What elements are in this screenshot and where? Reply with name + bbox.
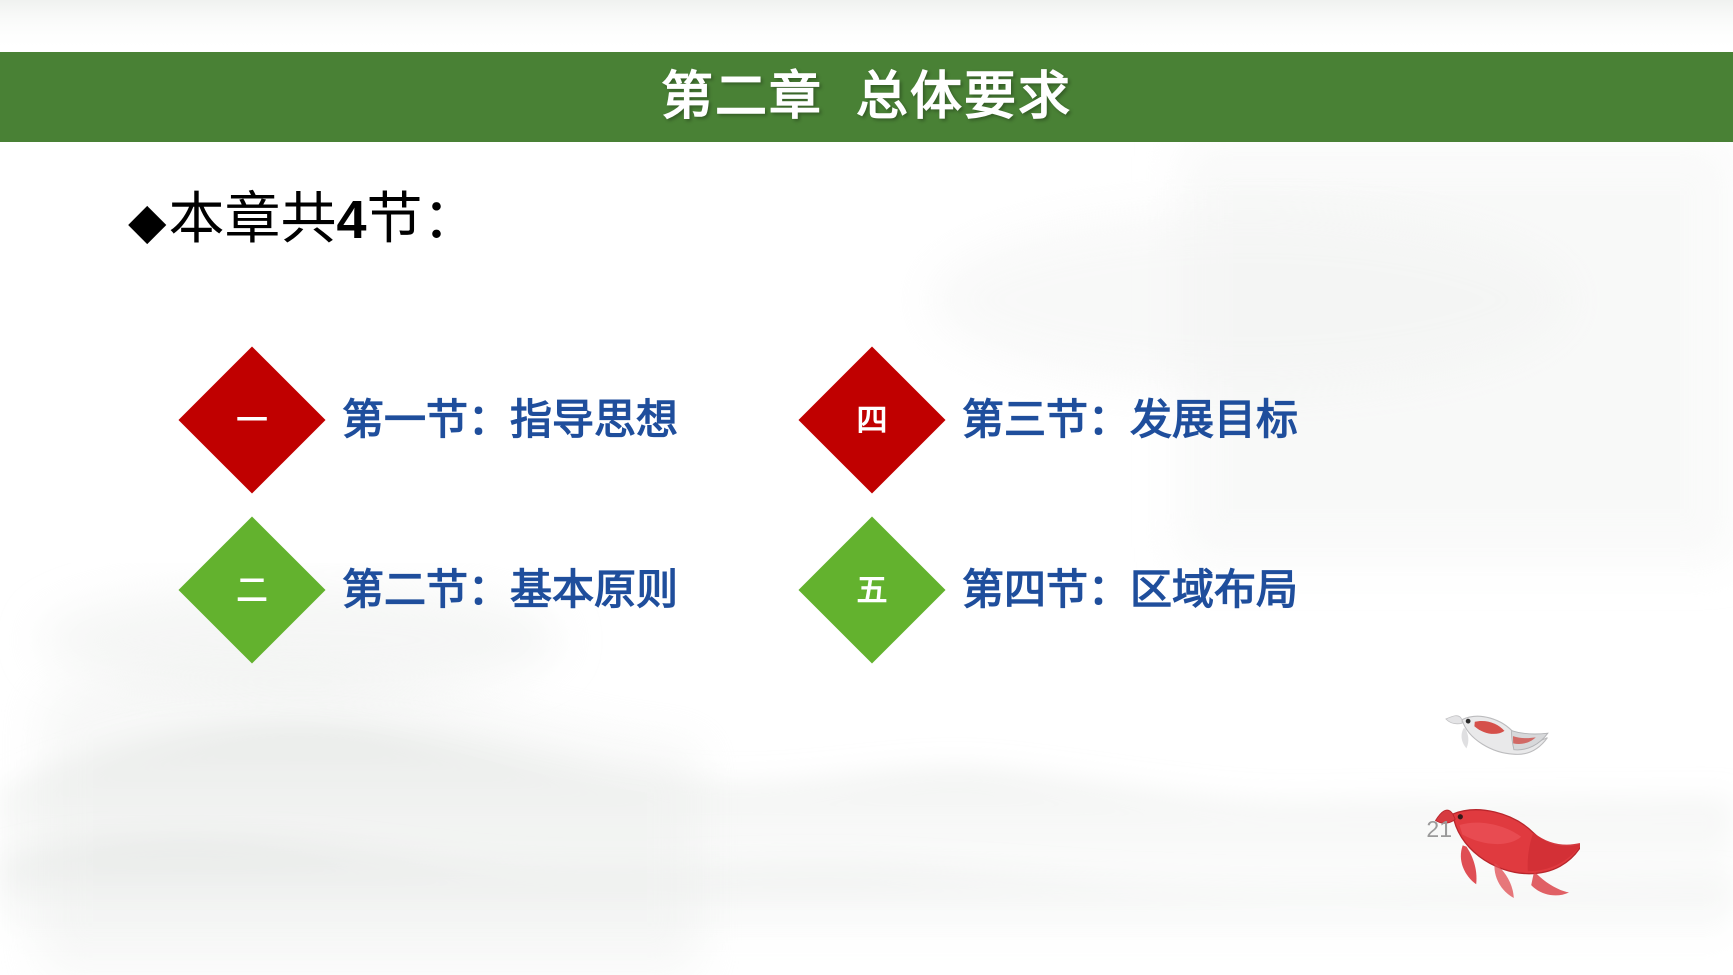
section-label-2: 第二节：基本原则: [342, 569, 678, 611]
chapter-summary-text-before: 本章共: [168, 190, 336, 252]
page-number: 21: [1406, 818, 1452, 841]
page-title: 第二章 总体要求: [661, 71, 1072, 123]
section-badge-diamond-4: 五: [798, 516, 945, 663]
section-badge-number-3: 四: [820, 368, 924, 472]
section-badge-diamond-1: 一: [178, 346, 325, 493]
section-badge-number-1: 一: [200, 368, 304, 472]
section-item-1[interactable]: 一 第一节：指导思想: [200, 368, 678, 472]
section-item-3[interactable]: 四 第三节：发展目标: [820, 368, 1298, 472]
chapter-summary-line: ◆ 本章共 4 节：: [128, 190, 479, 252]
section-badge-number-4: 五: [820, 538, 924, 642]
section-badge-diamond-3: 四: [798, 346, 945, 493]
slide: 第二章 总体要求 ◆ 本章共 4 节： 一 第一节：指导思想 二 第二节：基本原…: [0, 0, 1733, 975]
section-list: 一 第一节：指导思想 二 第二节：基本原则 四 第三节：发展目标 五 第四节：区…: [0, 368, 1733, 708]
slide-title-bar: 第二章 总体要求: [0, 52, 1733, 142]
section-item-4[interactable]: 五 第四节：区域布局: [820, 538, 1298, 642]
diamond-bullet-icon: ◆: [128, 196, 166, 246]
koi-fish-red-icon: [1430, 782, 1580, 917]
section-label-3: 第三节：发展目标: [962, 399, 1298, 441]
chapter-section-count: 4: [336, 191, 366, 250]
section-label-1: 第一节：指导思想: [342, 399, 678, 441]
section-label-4: 第四节：区域布局: [962, 569, 1298, 611]
section-badge-number-2: 二: [200, 538, 304, 642]
section-badge-diamond-2: 二: [178, 516, 325, 663]
chapter-summary-text-after: 节：: [367, 190, 479, 252]
section-item-2[interactable]: 二 第二节：基本原则: [200, 538, 678, 642]
